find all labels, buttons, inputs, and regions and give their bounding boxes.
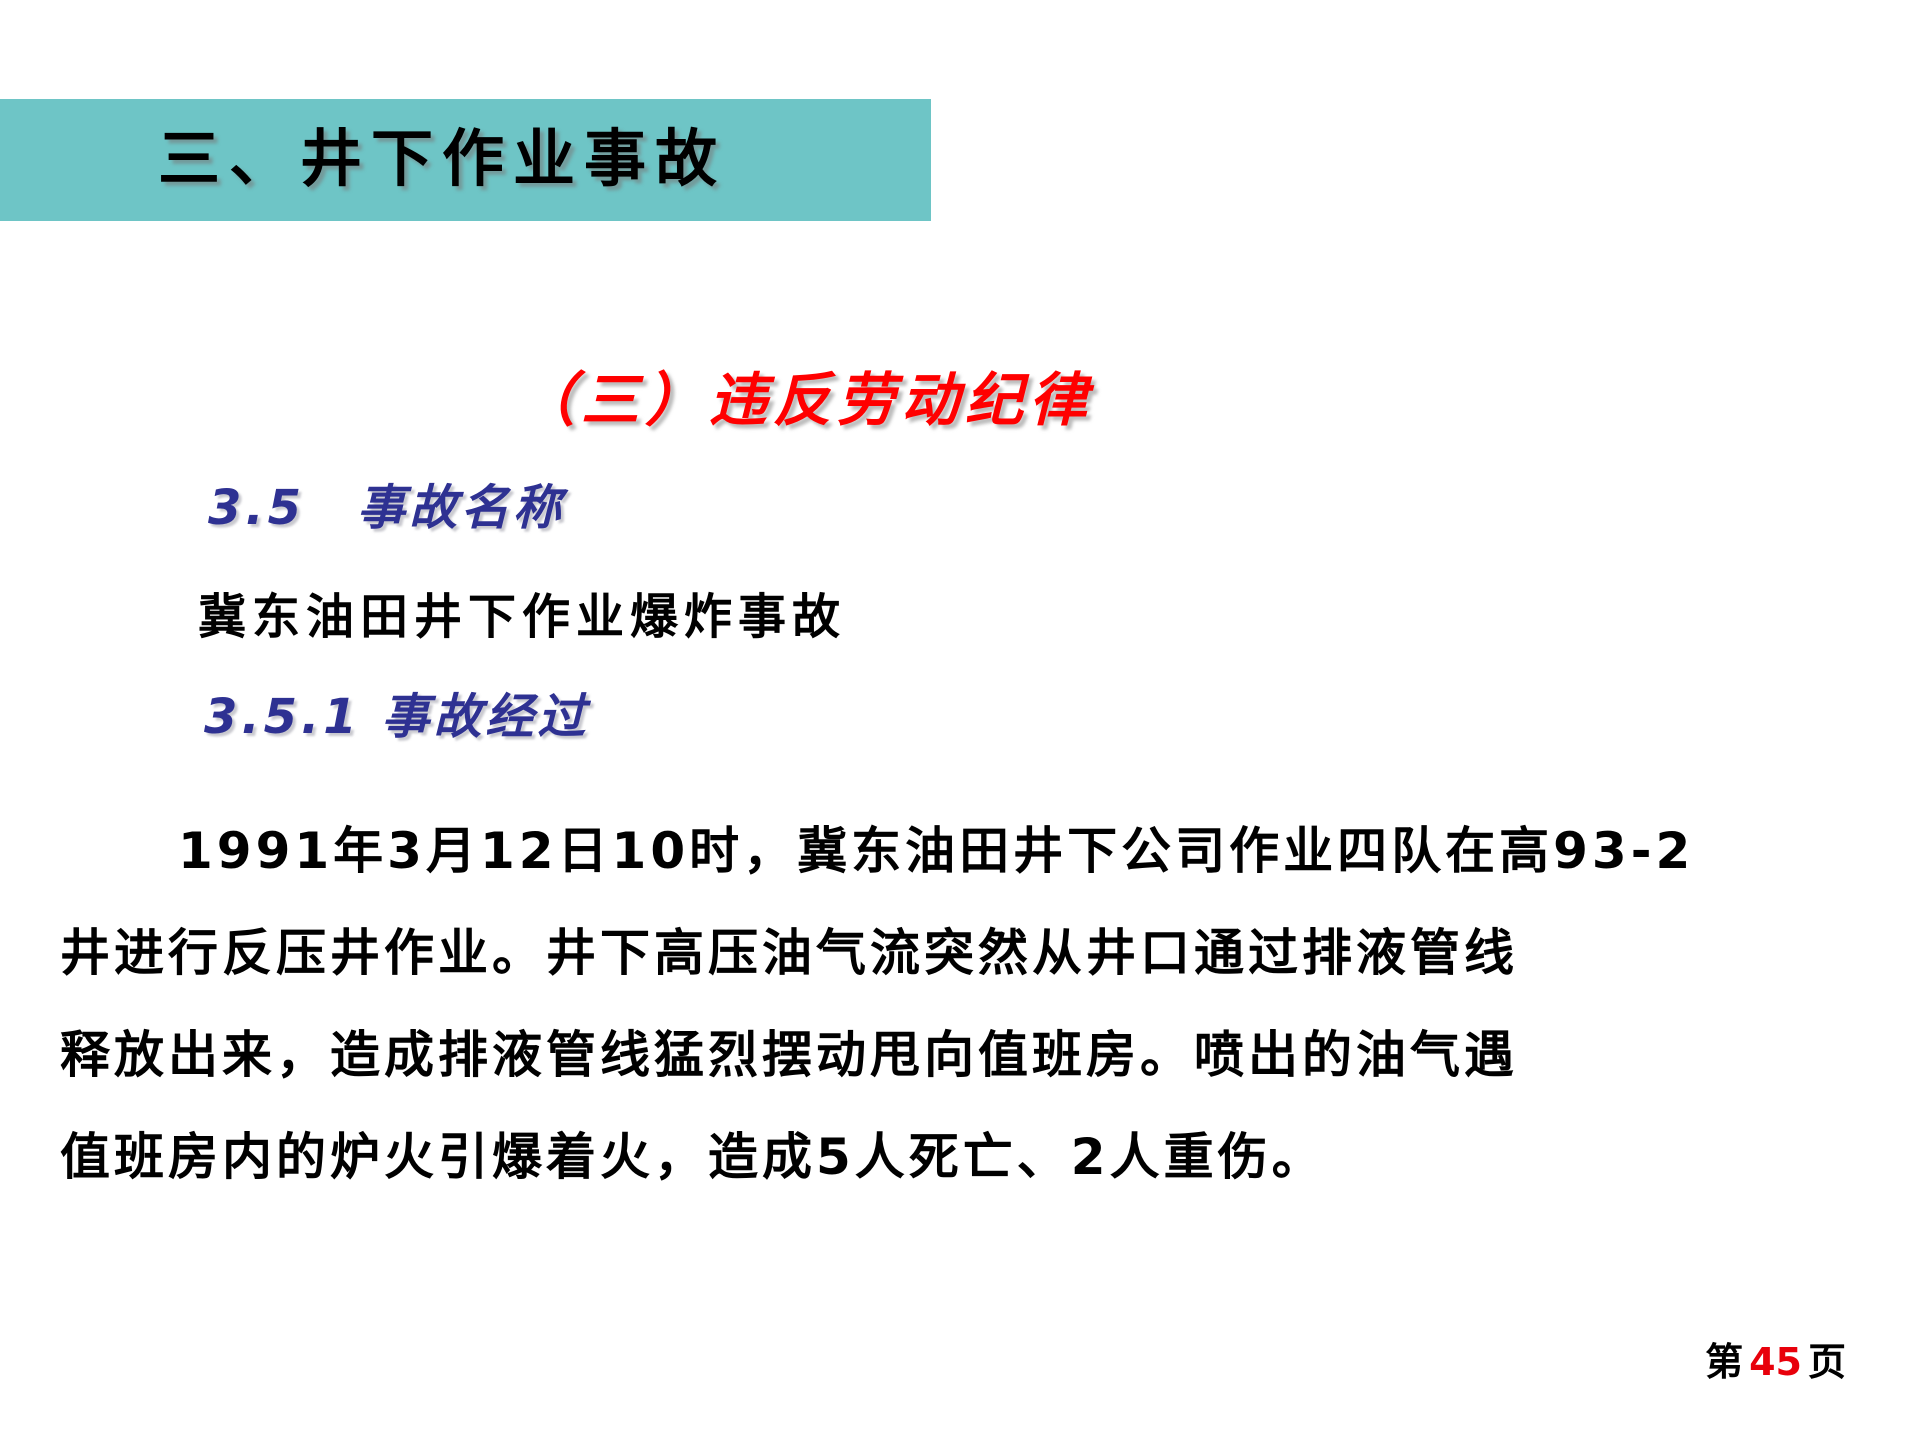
slide-canvas: 三、井下作业事故 （三）违反劳动纪律 3.5 事故名称 冀东油田井下作业爆炸事故… — [0, 0, 1920, 1440]
narrative-line: 井进行反压井作业。井下高压油气流突然从井口通过排液管线 — [60, 902, 1910, 1004]
narrative-line: 值班房内的炉火引爆着火，造成5人死亡、2人重伤。 — [60, 1106, 1910, 1208]
page-suffix-label: 页 — [1808, 1340, 1846, 1384]
section-title: 三、井下作业事故 — [158, 107, 726, 211]
heading-3-5: 3.5 事故名称 — [208, 475, 565, 541]
narrative-line: 1991年3月12日10时，冀东油田井下公司作业四队在高93-2 — [60, 800, 1910, 902]
narrative-line: 释放出来，造成排液管线猛烈摆动甩向值班房。喷出的油气遇 — [60, 1004, 1910, 1106]
subsection-title: （三）违反劳动纪律 — [0, 362, 1610, 438]
page-number: 45 — [1743, 1340, 1808, 1384]
accident-name-text: 冀东油田井下作业爆炸事故 — [198, 584, 846, 650]
page-prefix-label: 第 — [1705, 1340, 1743, 1384]
page-number-footer: 第45页 — [1705, 1338, 1846, 1386]
section-title-band: 三、井下作业事故 — [0, 99, 931, 221]
heading-3-5-1: 3.5.1 事故经过 — [204, 684, 589, 750]
accident-narrative: 1991年3月12日10时，冀东油田井下公司作业四队在高93-2 井进行反压井作… — [60, 800, 1910, 1208]
